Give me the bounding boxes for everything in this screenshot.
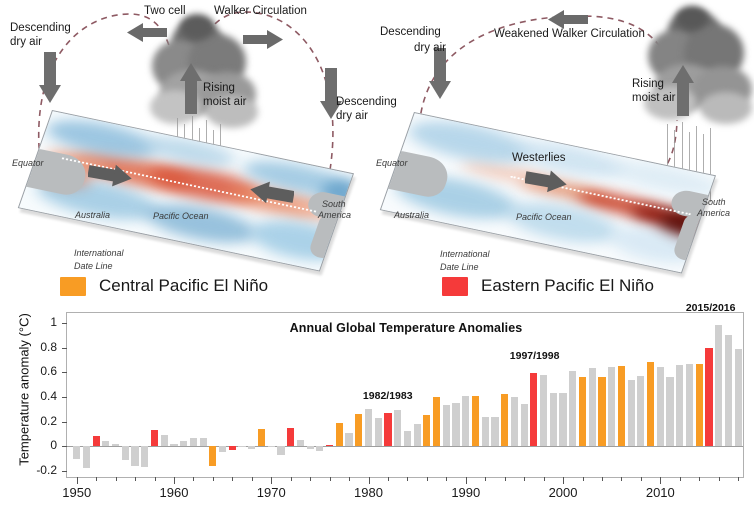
bar (705, 348, 712, 447)
bar (598, 377, 605, 446)
x-axis-tick-label: 1980 (339, 485, 399, 500)
annual-temperature-anomaly-chart: Temperature anomaly (°C) Annual Global T… (0, 306, 754, 518)
label-equator-left: Equator (12, 158, 44, 169)
x-axis-minor-tick (485, 477, 486, 481)
x-axis-minor-tick (602, 477, 603, 481)
bar (686, 364, 693, 447)
bar (443, 405, 450, 446)
x-axis-major-tick (369, 477, 370, 484)
bar (326, 445, 333, 446)
y-axis-tick (62, 348, 67, 349)
label-descending-dry-air-right-panel-2: dry air (414, 42, 446, 55)
bar (93, 436, 100, 446)
bar (73, 446, 80, 458)
label-rising-moist-air-right-2: moist air (632, 92, 675, 105)
bar (219, 446, 226, 452)
y-axis-tick-label: 1 (17, 315, 57, 329)
legend-label-eastern: Eastern Pacific El Niño (481, 276, 654, 296)
bar (414, 424, 421, 446)
bar (277, 446, 284, 455)
label-rising-moist-air-2: moist air (203, 96, 246, 109)
bar (618, 366, 625, 446)
bar (161, 435, 168, 446)
x-axis-minor-tick (641, 477, 642, 481)
label-south-america-left-2: America (318, 210, 351, 221)
label-rising-moist-air: Rising (203, 82, 235, 95)
bar (287, 428, 294, 446)
y-axis-tick (62, 323, 67, 324)
bar (355, 414, 362, 446)
bar (375, 418, 382, 446)
bar (462, 396, 469, 447)
bar (433, 397, 440, 446)
bar (238, 446, 245, 447)
x-axis-minor-tick (330, 477, 331, 481)
westerlies-arrow (525, 168, 569, 199)
x-axis-minor-tick (232, 477, 233, 481)
bar (521, 404, 528, 446)
x-axis-minor-tick (388, 477, 389, 481)
label-equator-right: Equator (376, 158, 408, 169)
bar (482, 417, 489, 447)
chart-legend: Central Pacific El Niño Eastern Pacific … (0, 272, 754, 306)
bar (384, 413, 391, 446)
rising-air-arrow-left (180, 62, 202, 119)
y-axis-tick-label: 0.6 (17, 364, 57, 378)
y-axis-tick-label: 0.8 (17, 340, 57, 354)
bar (102, 441, 109, 446)
x-axis-major-tick (660, 477, 661, 484)
label-pacific-ocean-left: Pacific Ocean (153, 211, 209, 222)
panel-eastern-pacific: Weakened Walker Circulation Descending d… (372, 0, 754, 272)
bar (190, 438, 197, 447)
bar (180, 441, 187, 446)
bar (268, 446, 275, 447)
y-axis-tick-label: 0.4 (17, 389, 57, 403)
bar (112, 444, 119, 446)
legend-swatch-central (60, 277, 86, 296)
bar (297, 440, 304, 446)
bar (550, 393, 557, 446)
label-pacific-ocean-right: Pacific Ocean (516, 212, 572, 223)
plot-area: Annual Global Temperature Anomalies -0.2… (66, 312, 744, 478)
chart-annotation: 1982/1983 (363, 390, 413, 402)
bar (365, 409, 372, 446)
label-descending-dry-air-right-2: dry air (336, 110, 368, 123)
bar (258, 429, 265, 446)
bar (122, 446, 129, 460)
x-axis-tick-label: 1990 (436, 485, 496, 500)
x-axis-minor-tick (505, 477, 506, 481)
surface-wind-arrow-east-left (88, 162, 134, 193)
bar (608, 367, 615, 446)
x-axis-minor-tick (680, 477, 681, 481)
y-axis-tick (62, 471, 67, 472)
x-axis-minor-tick (213, 477, 214, 481)
bar (141, 446, 148, 467)
bar (248, 446, 255, 448)
x-axis-minor-tick (427, 477, 428, 481)
label-south-america-right: South (702, 197, 726, 208)
label-rising-moist-air-right: Rising (632, 78, 664, 91)
bar (715, 325, 722, 446)
bar (579, 377, 586, 446)
chart-annotation: 1997/1998 (510, 350, 560, 362)
bar (491, 417, 498, 447)
upper-flow-arrow-right (243, 30, 283, 55)
label-walker-circulation: Walker Circulation (214, 5, 307, 18)
elnino-schematic-panels: Two cell Walker Circulation Descending d… (0, 0, 754, 272)
x-axis-tick-label: 2010 (630, 485, 690, 500)
label-descending-dry-air-right-panel: Descending (380, 26, 441, 39)
x-axis-minor-tick (193, 477, 194, 481)
label-date-line-left: International (74, 248, 124, 259)
bar (559, 393, 566, 446)
x-axis-major-tick (563, 477, 564, 484)
y-axis-tick (62, 372, 67, 373)
x-axis-minor-tick (446, 477, 447, 481)
bar (170, 444, 177, 446)
label-westerlies: Westerlies (512, 152, 565, 165)
label-south-america-left: South (322, 199, 346, 210)
bar (452, 403, 459, 446)
bar (404, 431, 411, 446)
x-axis-minor-tick (699, 477, 700, 481)
legend-swatch-eastern (442, 277, 468, 296)
bar (696, 364, 703, 447)
x-axis-minor-tick (719, 477, 720, 481)
x-axis-major-tick (77, 477, 78, 484)
chart-title: Annual Global Temperature Anomalies (67, 321, 745, 335)
bar (676, 365, 683, 446)
panel-central-pacific: Two cell Walker Circulation Descending d… (0, 0, 372, 272)
bar (647, 362, 654, 446)
x-axis-tick-label: 1970 (241, 485, 301, 500)
label-two-cell: Two cell (144, 5, 186, 18)
label-date-line-right: International (440, 249, 490, 260)
descending-air-arrow-right-panel (429, 48, 451, 105)
descending-air-arrow-left (39, 52, 61, 109)
bar (637, 376, 644, 446)
x-axis-tick-label: 1950 (47, 485, 107, 500)
y-axis-tick-label: -0.2 (17, 463, 57, 477)
y-axis-tick (62, 446, 67, 447)
upper-flow-arrow-left (127, 23, 167, 48)
bar (345, 433, 352, 447)
x-axis-minor-tick (583, 477, 584, 481)
y-axis-tick-label: 0.2 (17, 414, 57, 428)
x-axis-major-tick (466, 477, 467, 484)
bar (394, 410, 401, 446)
surface-wind-arrow-west-left (248, 180, 294, 211)
label-weakened-walker: Weakened Walker Circulation (494, 28, 645, 41)
bar (540, 375, 547, 447)
bar (569, 371, 576, 446)
bar (131, 446, 138, 466)
bar (151, 430, 158, 446)
bar (336, 423, 343, 446)
x-axis-minor-tick (135, 477, 136, 481)
x-axis-minor-tick (96, 477, 97, 481)
x-axis-minor-tick (155, 477, 156, 481)
bar (589, 368, 596, 446)
x-axis-minor-tick (738, 477, 739, 481)
x-axis-tick-label: 1960 (144, 485, 204, 500)
bar (200, 438, 207, 447)
bar (657, 367, 664, 446)
legend-item-central-pacific: Central Pacific El Niño (60, 276, 268, 296)
x-axis-major-tick (271, 477, 272, 484)
bar (725, 335, 732, 446)
x-axis-minor-tick (407, 477, 408, 481)
x-axis-minor-tick (116, 477, 117, 481)
x-axis-major-tick (174, 477, 175, 484)
x-axis-minor-tick (310, 477, 311, 481)
x-axis-tick-label: 2000 (533, 485, 593, 500)
legend-label-central: Central Pacific El Niño (99, 276, 268, 296)
y-axis-tick (62, 422, 67, 423)
label-south-america-right-2: America (697, 208, 730, 219)
bar (530, 373, 537, 446)
y-axis-tick (62, 397, 67, 398)
bar (735, 349, 742, 446)
bar (666, 377, 673, 446)
bar (307, 446, 314, 448)
x-axis-minor-tick (544, 477, 545, 481)
label-date-line-left-2: Date Line (74, 261, 113, 272)
label-australia-left: Australia (75, 210, 110, 221)
label-descending-dry-air-left-2: dry air (10, 36, 42, 49)
bar (423, 415, 430, 446)
bar (229, 446, 236, 450)
label-australia-right: Australia (394, 210, 429, 221)
bar (316, 446, 323, 451)
x-axis-minor-tick (349, 477, 350, 481)
chart-annotation: 2015/2016 (686, 302, 736, 314)
x-axis-minor-tick (524, 477, 525, 481)
bar (472, 396, 479, 447)
bar (511, 397, 518, 446)
bar (83, 446, 90, 468)
legend-item-eastern-pacific: Eastern Pacific El Niño (442, 276, 654, 296)
zero-baseline (67, 446, 743, 447)
bar (209, 446, 216, 466)
x-axis-minor-tick (252, 477, 253, 481)
label-descending-dry-air-left: Descending (10, 22, 71, 35)
bar (628, 380, 635, 447)
y-axis-tick-label: 0 (17, 438, 57, 452)
x-axis-minor-tick (291, 477, 292, 481)
bar (501, 394, 508, 446)
x-axis-minor-tick (621, 477, 622, 481)
